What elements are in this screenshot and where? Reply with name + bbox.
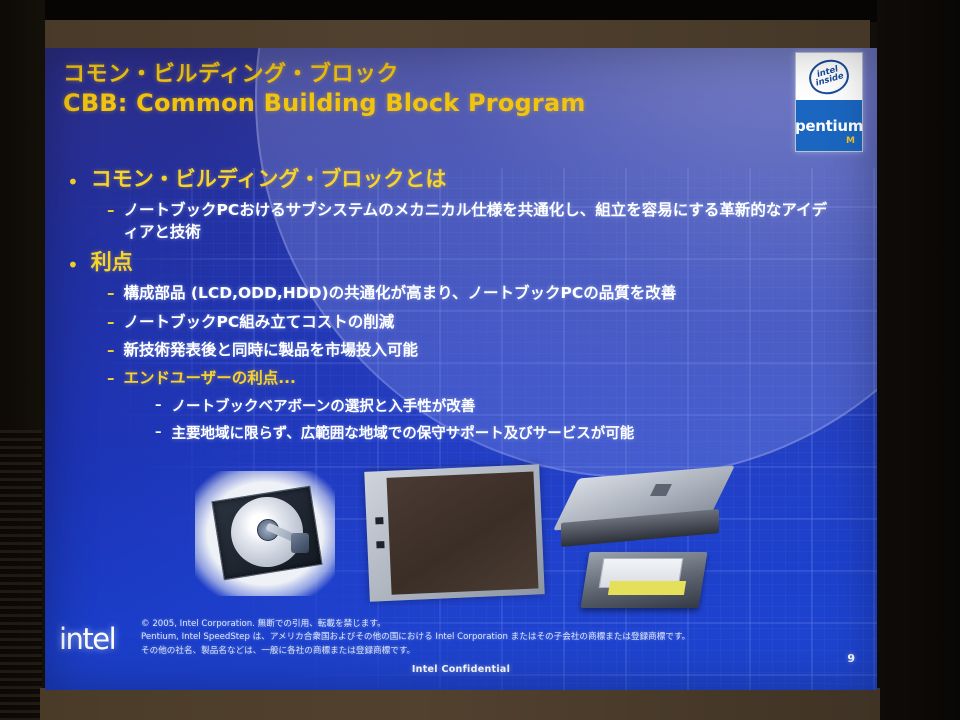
slide-title-english: CBB: Common Building Block Program <box>63 89 763 118</box>
wall-light-band-bottom <box>40 688 880 720</box>
bullet-text: 構成部品 (LCD,ODD,HDD)の共通化が高まり、ノートブックPCの品質を改… <box>124 283 829 304</box>
intel-inside-swirl-icon: intel inside <box>805 55 853 99</box>
notebook-and-optical-drive-photo <box>557 466 729 614</box>
legal-notice: © 2005, Intel Corporation. 無断での引用、転載を禁じま… <box>141 618 831 658</box>
legal-line-1: © 2005, Intel Corporation. 無断での引用、転載を禁じま… <box>141 618 831 631</box>
badge-suffix: M <box>846 136 855 146</box>
bullet-text: コモン・ビルディング・ブロックとは <box>91 166 447 193</box>
legal-line-3: その他の社名、製品名などは、一般に各社の商標または登録商標です。 <box>141 645 831 658</box>
bullet-level2: – 新技術発表後と同時に製品を市場投入可能 <box>107 340 859 361</box>
bullet-text: 利点 <box>91 249 133 276</box>
bullet-text: 主要地域に限らず、広範囲な地域での保守サポート及びサービスが可能 <box>172 424 635 444</box>
wall-vent-grille <box>0 430 42 720</box>
bullet-text: エンドユーザーの利点... <box>124 368 829 389</box>
bullet-level2-highlighted: – エンドユーザーの利点... <box>107 368 859 389</box>
bullet-level2: – 構成部品 (LCD,ODD,HDD)の共通化が高まり、ノートブックPCの品質… <box>107 283 859 304</box>
bullet-level1: • コモン・ビルディング・ブロックとは <box>59 166 859 193</box>
slide-title-japanese: コモン・ビルディング・ブロック <box>63 62 763 88</box>
bullet-text: ノートブックベアボーンの選択と入手性が改善 <box>172 397 476 417</box>
bullet-level1: • 利点 <box>59 249 859 276</box>
pentium-m-badge: intel inside pentium M <box>795 52 863 152</box>
slide-footer: intel © 2005, Intel Corporation. 無断での引用、… <box>45 616 877 690</box>
bullet-text: 新技術発表後と同時に製品を市場投入可能 <box>124 340 829 361</box>
lcd-panel-photo <box>364 464 545 602</box>
bullet-dash-icon: – <box>155 397 162 415</box>
bullet-level2: – ノートブックPC組み立てコストの削減 <box>107 312 859 333</box>
intel-logo-int: intel <box>59 622 115 656</box>
bullet-dash-icon: – <box>107 312 115 332</box>
intel-logo: intel <box>59 622 115 656</box>
wall-right <box>877 0 960 720</box>
bullet-dash-icon: – <box>107 340 115 360</box>
bullet-dash-icon: – <box>107 200 115 220</box>
bullet-level3: – ノートブックベアボーンの選択と入手性が改善 <box>155 397 859 417</box>
bullet-level2: – ノートブックPCおけるサブシステムのメカニカル仕様を共通化し、組立を容易にす… <box>107 200 859 243</box>
legal-line-2: Pentium, Intel SpeedStep は、アメリカ合衆国およびその他… <box>141 631 831 644</box>
bullet-dot-icon: • <box>67 255 79 275</box>
wall-light-band-top <box>40 20 870 50</box>
optical-drive-yellow-sticker <box>608 581 686 595</box>
badge-product-name: pentium <box>795 117 863 135</box>
wall-top-shadow <box>0 0 960 22</box>
bullet-text: ノートブックPC組み立てコストの削減 <box>124 312 829 333</box>
pentium-label-area: pentium M <box>796 100 862 151</box>
bullet-dash-icon: – <box>107 283 115 303</box>
slide-title: コモン・ビルディング・ブロック CBB: Common Building Blo… <box>63 62 763 118</box>
bullet-text: ノートブックPCおけるサブシステムのメカニカル仕様を共通化し、組立を容易にする革… <box>124 200 829 243</box>
projected-slide: コモン・ビルディング・ブロック CBB: Common Building Blo… <box>45 48 877 690</box>
slide-body: • コモン・ビルディング・ブロックとは – ノートブックPCおけるサブシステムの… <box>59 160 859 444</box>
bullet-dash-icon: – <box>155 424 162 442</box>
hdd-actuator-base <box>291 533 309 553</box>
hard-disk-drive-photo <box>195 471 335 596</box>
bullet-dash-icon: – <box>107 368 115 388</box>
bullet-level3: – 主要地域に限らず、広範囲な地域での保守サポート及びサービスが可能 <box>155 424 859 444</box>
intel-inside-logo-area: intel inside <box>796 53 862 100</box>
projection-room: コモン・ビルディング・ブロック CBB: Common Building Blo… <box>0 0 960 720</box>
product-photos <box>45 466 877 641</box>
lcd-connector-tab <box>376 541 384 548</box>
lcd-connector-tab <box>375 517 383 524</box>
lcd-bezel <box>364 464 545 602</box>
confidentiality-notice: Intel Confidential <box>45 664 877 675</box>
bullet-dot-icon: • <box>67 172 79 192</box>
lcd-screen <box>387 472 539 595</box>
